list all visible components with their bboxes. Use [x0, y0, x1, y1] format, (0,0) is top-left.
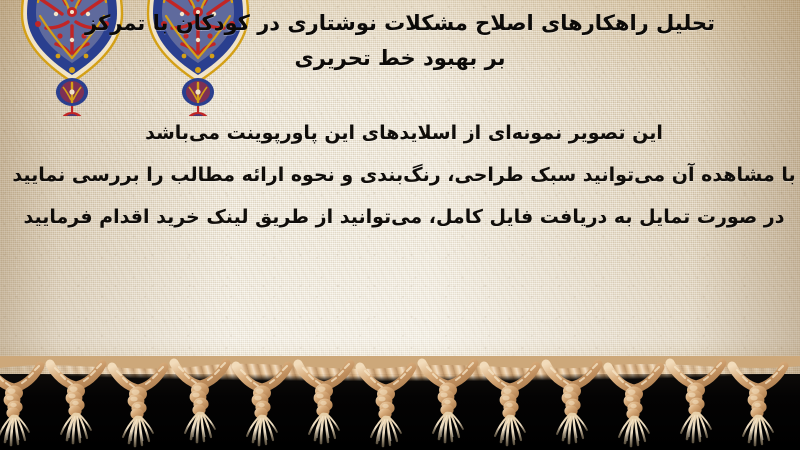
slide-body-line-3: در صورت تمایل به دریافت فایل کامل، می‌تو… [8, 196, 800, 238]
slide-title-line-2: بر بهبود خط تحریری [10, 41, 790, 76]
slide-body-line-2: با مشاهده آن می‌توانید سبک طراحی، رنگ‌بن… [8, 154, 800, 196]
slide-body-line-1: این تصویر نمونه‌ای از اسلایدهای این پاور… [8, 112, 800, 154]
woven-cord-edge [0, 360, 800, 382]
slide-text-layer: تحلیل راهکارهای اصلاح مشکلات نوشتاری در … [0, 0, 800, 374]
slide-body-text: این تصویر نمونه‌ای از اسلایدهای این پاور… [8, 112, 800, 238]
black-background-band [0, 374, 800, 450]
slide-title-line-1: تحلیل راهکارهای اصلاح مشکلات نوشتاری در … [85, 11, 715, 35]
slide-title: تحلیل راهکارهای اصلاح مشکلات نوشتاری در … [10, 6, 790, 76]
slide-canvas: تحلیل راهکارهای اصلاح مشکلات نوشتاری در … [0, 0, 800, 450]
